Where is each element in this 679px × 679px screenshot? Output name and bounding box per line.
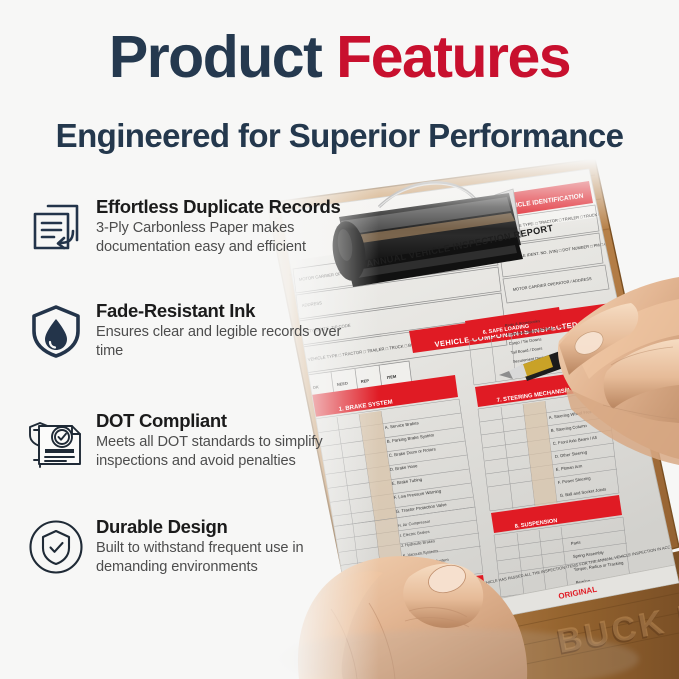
page-title: Product Features	[0, 24, 679, 90]
feature-list: Effortless Duplicate Records 3-Ply Carbo…	[22, 193, 352, 613]
product-features-infographic: Product Features Engineered for Superior…	[0, 0, 679, 679]
feature-item-dot-compliant: DOT Compliant Meets all DOT standards to…	[22, 407, 352, 493]
page-subtitle: Engineered for Superior Performance	[0, 116, 679, 156]
shield-ink-droplet-icon	[26, 301, 86, 361]
feature-description: Meets all DOT standards to simplify insp…	[96, 433, 342, 470]
feature-item-durable-design: Durable Design Built to withstand freque…	[22, 513, 352, 599]
feature-item-duplicate-records: Effortless Duplicate Records 3-Ply Carbo…	[22, 193, 352, 279]
feature-title: Durable Design	[96, 515, 352, 538]
duplicate-documents-icon	[26, 197, 86, 257]
page-title-word-features: Features	[336, 24, 570, 90]
document-check-shield-icon	[26, 411, 86, 471]
feature-description: 3-Ply Carbonless Paper makes documentati…	[96, 219, 342, 256]
feature-title: Effortless Duplicate Records	[96, 195, 352, 218]
feature-item-fade-resistant-ink: Fade-Resistant Ink Ensures clear and leg…	[22, 297, 352, 383]
feature-title: Fade-Resistant Ink	[96, 299, 352, 322]
feature-description: Ensures clear and legible records over t…	[96, 323, 342, 360]
page-title-word-product: Product	[109, 24, 321, 90]
feature-title: DOT Compliant	[96, 409, 352, 432]
feature-description: Built to withstand frequent use in deman…	[96, 539, 342, 576]
circle-shield-check-icon	[26, 517, 86, 577]
